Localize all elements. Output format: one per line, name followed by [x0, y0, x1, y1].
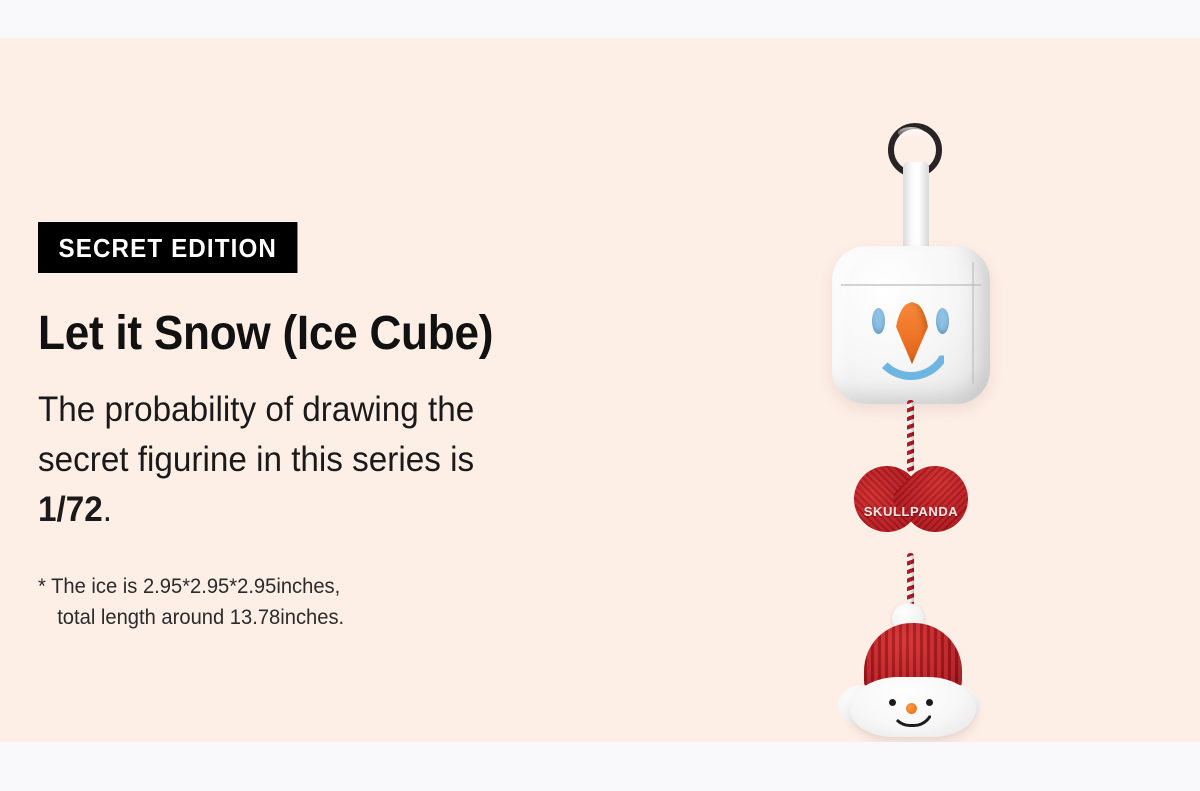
secret-edition-promo-panel: SECRET EDITION Let it Snow (Ice Cube) Th… — [0, 38, 1200, 742]
heart-brand-label: SKULLPANDA — [854, 504, 968, 519]
ice-cube-plush — [832, 246, 990, 404]
snowman-eye-left — [889, 699, 896, 706]
probability-trailing-period: . — [103, 490, 112, 529]
size-note-line-2: total length around 13.78inches. — [38, 603, 633, 633]
heart-lobe-right — [888, 452, 981, 545]
probability-paragraph: The probability of drawing the secret fi… — [38, 385, 556, 534]
ice-cube-eye-right — [936, 308, 949, 334]
probability-odds-value: 1/72 — [38, 490, 103, 529]
snowman-eye-right — [926, 699, 933, 706]
product-image: SKULLPANDA — [790, 98, 1080, 742]
size-note: * The ice is 2.95*2.95*2.95inches, total… — [38, 572, 633, 633]
ice-cube-eye-left — [872, 308, 885, 334]
promo-copy-block: SECRET EDITION Let it Snow (Ice Cube) Th… — [38, 222, 658, 633]
ice-cube-top-seam — [841, 256, 981, 286]
size-note-line-1: * The ice is 2.95*2.95*2.95inches, — [38, 575, 340, 598]
promo-page: SECRET EDITION Let it Snow (Ice Cube) Th… — [0, 0, 1200, 791]
panel-top-sheen — [0, 38, 1200, 54]
skullpanda-heart-charm: SKULLPANDA — [854, 458, 968, 558]
ice-cube-side-seam — [972, 262, 974, 384]
probability-lead-text: The probability of drawing the secret fi… — [38, 390, 474, 479]
page-title: Let it Snow (Ice Cube) — [38, 309, 608, 359]
ice-cube-smile — [870, 334, 952, 380]
snowman-head-charm — [842, 603, 982, 742]
secret-edition-badge: SECRET EDITION — [38, 222, 297, 273]
